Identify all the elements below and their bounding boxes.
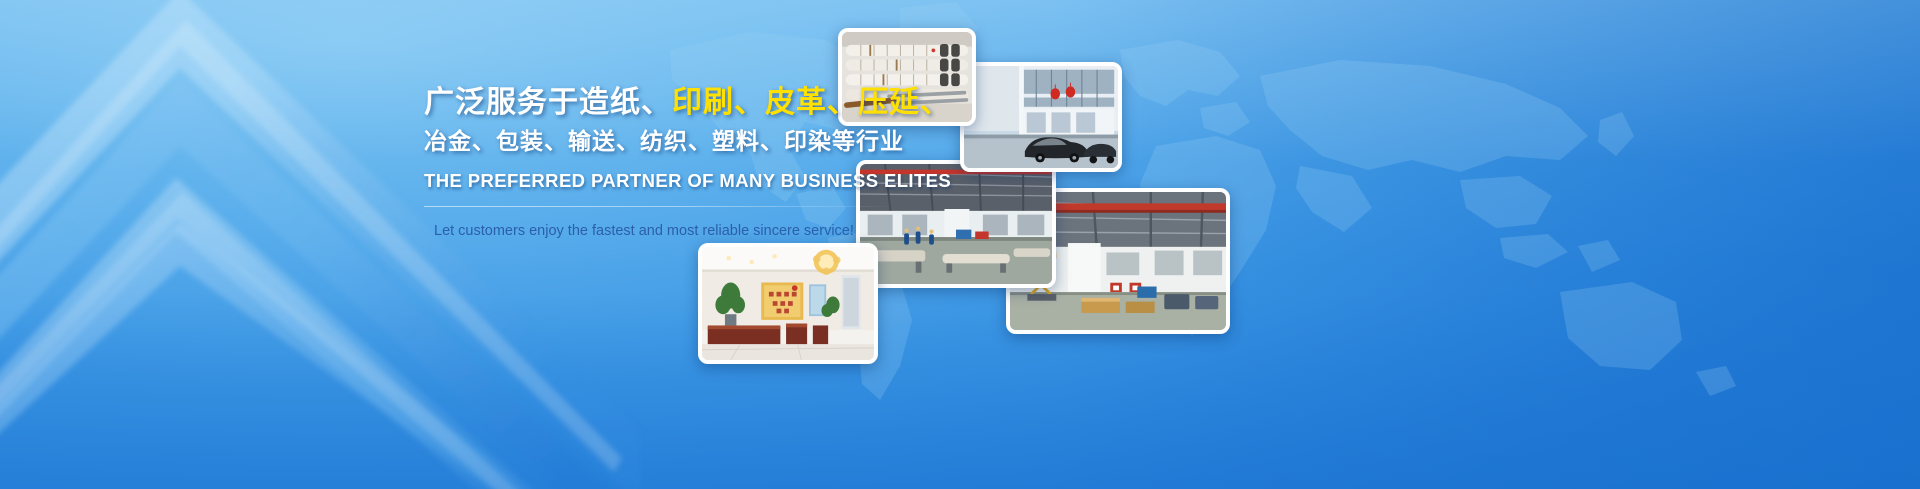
copy-divider	[424, 206, 894, 207]
headline-line-2: 冶金、包装、输送、纺织、塑料、印染等行业	[424, 124, 894, 158]
headline-accent-leather: 皮革、	[765, 86, 858, 119]
headline-line-1: 广泛服务于造纸、印刷、皮革、压延、	[424, 84, 894, 122]
photo-office-lobby[interactable]	[698, 243, 878, 364]
photo-factory-exterior[interactable]	[960, 62, 1122, 172]
photo-collage	[0, 0, 1920, 489]
photo-office-lobby-image	[702, 247, 874, 360]
background-wash-bottom	[0, 293, 1920, 489]
headline-accent-calendering: 压延、	[858, 86, 951, 119]
photo-factory-exterior-image	[964, 66, 1118, 168]
subhead-english: THE PREFERRED PARTNER OF MANY BUSINESS E…	[424, 170, 894, 192]
headline-part-plain: 广泛服务于造纸、	[424, 86, 672, 119]
tagline: Let customers enjoy the fastest and most…	[424, 221, 894, 241]
banner-copy: 广泛服务于造纸、印刷、皮革、压延、 冶金、包装、输送、纺织、塑料、印染等行业 T…	[424, 84, 894, 241]
chevron-ribbons	[0, 0, 660, 489]
headline-accent-printing: 印刷、	[672, 86, 765, 119]
hero-banner: 广泛服务于造纸、印刷、皮革、压延、 冶金、包装、输送、纺织、塑料、印染等行业 T…	[0, 0, 1920, 489]
